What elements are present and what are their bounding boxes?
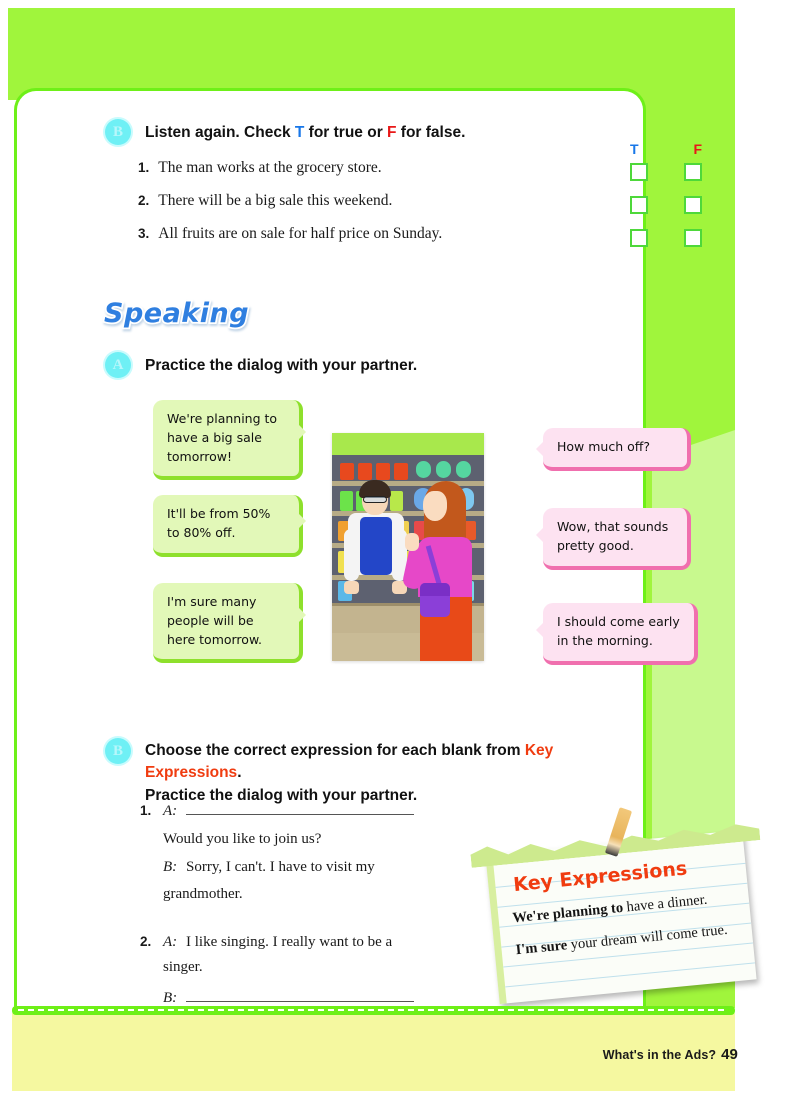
dialog-fill-in-list: 1. A: Would you like to join us? B: Sorr… — [140, 798, 500, 1033]
dialog-line: 2. A: I like singing. I really want to b… — [140, 929, 500, 957]
speech-bubble-left-1: We're planning to have a big sale tomorr… — [153, 400, 303, 480]
dialog-line: Would you like to join us? — [140, 826, 500, 854]
shelf-product — [340, 491, 353, 511]
listening-exercise: B Listen again. Check T for true or F fo… — [105, 119, 645, 258]
speaker-label: A: — [163, 798, 180, 826]
instruction-t-letter: T — [295, 124, 304, 141]
checkbox-true-1[interactable] — [630, 163, 648, 181]
listening-heading: B Listen again. Check T for true or F fo… — [105, 119, 645, 145]
choose-text-part-b: . — [237, 764, 241, 781]
speaking-a-instruction: Practice the dialog with your partner. — [145, 352, 417, 376]
true-false-checkbox-grid — [630, 163, 702, 262]
speaker-label: A: — [163, 929, 180, 957]
customer-face — [423, 491, 447, 521]
shelf-product — [456, 461, 471, 478]
instruction-text-part-c: for false. — [397, 124, 466, 141]
shelf-product — [376, 463, 390, 480]
dialog-line: 1. A: — [140, 798, 500, 826]
green-top-band — [8, 8, 735, 100]
choose-instruction: Choose the correct expression for each b… — [145, 738, 650, 807]
instruction-f-letter: F — [387, 124, 396, 141]
shelf-product — [436, 461, 451, 478]
choose-exercise-heading: B Choose the correct expression for each… — [105, 738, 650, 807]
question-number: 2. — [138, 193, 149, 208]
clerk-hand-left — [344, 581, 359, 594]
question-text: There will be a big sale this weekend. — [158, 192, 392, 210]
shelf-product — [390, 491, 403, 511]
store-dialog-illustration — [332, 433, 484, 661]
dialog-text: Would you like to join us? — [163, 826, 321, 854]
instruction-text-part-b: for true or — [304, 124, 387, 141]
checkbox-true-2[interactable] — [630, 196, 648, 214]
answer-blank-1a[interactable] — [186, 800, 414, 815]
shelf-product — [394, 463, 408, 480]
speech-bubble-left-2: It'll be from 50% to 80% off. — [153, 495, 303, 557]
listening-question-list: 1. The man works at the grocery store. 2… — [138, 159, 645, 258]
dialog-text: grandmother. — [163, 881, 243, 909]
textbook-page: B Listen again. Check T for true or F fo… — [0, 0, 800, 1114]
handbag-flap — [420, 583, 450, 596]
true-false-column-headers: T F — [630, 141, 702, 157]
customer-hand — [405, 533, 419, 551]
clerk-vest — [360, 517, 392, 575]
checkbox-row-2 — [630, 196, 702, 229]
column-header-true: T — [630, 141, 639, 157]
shelf-product — [416, 461, 431, 478]
speech-bubble-left-3: I'm sure many people will be here tomorr… — [153, 583, 303, 663]
list-item: 1. A: Would you like to join us? B: Sorr… — [140, 798, 500, 909]
list-item: 1. The man works at the grocery store. — [138, 159, 645, 192]
checkbox-false-3[interactable] — [684, 229, 702, 247]
checkbox-row-1 — [630, 163, 702, 196]
checkbox-false-2[interactable] — [684, 196, 702, 214]
shelf-product — [340, 463, 354, 480]
item-number: 2. — [140, 930, 157, 955]
footer-dashed-line — [18, 1009, 724, 1011]
dialog-line: grandmother. — [140, 881, 500, 909]
instruction-text-part-a: Listen again. Check — [145, 124, 295, 141]
dialog-line: B: Sorry, I can't. I have to visit my — [140, 854, 500, 882]
speaker-label: B: — [163, 854, 180, 882]
question-text: All fruits are on sale for half price on… — [158, 225, 442, 243]
question-number: 1. — [138, 160, 149, 175]
speech-bubble-right-3: I should come early in the morning. — [543, 603, 698, 665]
page-number: 49 — [721, 1046, 738, 1063]
item-number: 1. — [140, 799, 157, 824]
list-item: 2. There will be a big sale this weekend… — [138, 192, 645, 225]
dialog-line: singer. — [140, 957, 500, 977]
speaking-section-title: Speaking — [104, 298, 249, 329]
listening-instruction: Listen again. Check T for true or F for … — [145, 119, 465, 143]
checkbox-row-3 — [630, 229, 702, 262]
column-header-false: F — [693, 141, 702, 157]
question-number: 3. — [138, 226, 149, 241]
footer-unit-title: What's in the Ads? — [603, 1048, 716, 1062]
checkbox-false-1[interactable] — [684, 163, 702, 181]
shelf-board — [332, 481, 484, 486]
badge-b-listening: B — [105, 119, 131, 145]
dialog-text: I like singing. I really want to be a — [186, 929, 392, 957]
checkbox-true-3[interactable] — [630, 229, 648, 247]
glasses-icon — [363, 496, 387, 503]
dialog-text: Sorry, I can't. I have to visit my — [186, 854, 375, 882]
dialog-text: singer. — [163, 957, 203, 977]
list-item: 2. A: I like singing. I really want to b… — [140, 929, 500, 1013]
list-item: 3. All fruits are on sale for half price… — [138, 225, 645, 258]
question-text: The man works at the grocery store. — [158, 159, 381, 177]
footer: What's in the Ads?49 — [603, 1046, 738, 1063]
answer-blank-2b[interactable] — [186, 987, 414, 1002]
speech-bubble-right-1: How much off? — [543, 428, 691, 471]
badge-a-speaking: A — [105, 352, 131, 378]
badge-b-choose: B — [105, 738, 131, 764]
speech-bubble-right-2: Wow, that sounds pretty good. — [543, 508, 691, 570]
speaking-a-heading: A Practice the dialog with your partner. — [105, 352, 605, 378]
shelf-product — [358, 463, 372, 480]
choose-text-part-a: Choose the correct expression for each b… — [145, 742, 525, 759]
